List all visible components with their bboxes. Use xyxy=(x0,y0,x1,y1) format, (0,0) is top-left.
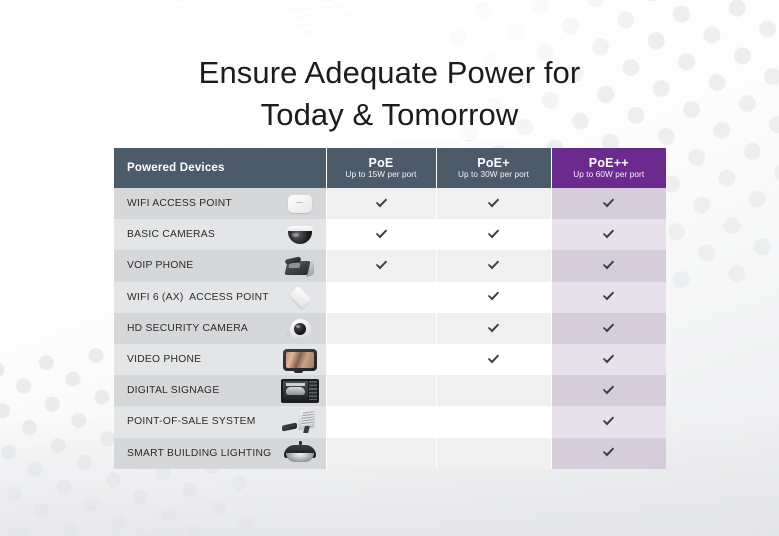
table-row: DIGITAL SIGNAGE xyxy=(114,375,666,406)
support-cell-poe xyxy=(326,344,436,375)
support-cell-poe-plus xyxy=(436,406,551,437)
device-label: POINT-OF-SALE SYSTEM xyxy=(127,416,256,427)
support-cell-poe-plus xyxy=(436,250,551,281)
turret-security-camera-thumbnail xyxy=(280,315,320,341)
table-row: POINT-OF-SALE SYSTEM xyxy=(114,406,666,437)
device-label: SMART BUILDING LIGHTING xyxy=(127,448,271,459)
device-name-cell: WIFI 6 (AX) ACCESS POINT xyxy=(114,282,326,313)
support-cell-poe-plus xyxy=(436,188,551,219)
check-icon xyxy=(374,227,389,242)
tier-name-poe-plus-plus: PoE++ xyxy=(552,156,667,170)
check-icon xyxy=(601,196,616,211)
tier-name-poe-plus: PoE+ xyxy=(437,156,551,170)
video-phone-thumbnail xyxy=(280,347,320,373)
check-icon xyxy=(601,258,616,273)
table-body: WIFI ACCESS POINTBASIC CAMERASVOIP PHONE… xyxy=(114,188,666,469)
check-icon xyxy=(486,227,501,242)
support-cell-poe xyxy=(326,250,436,281)
table-row: HD SECURITY CAMERA xyxy=(114,313,666,344)
check-icon xyxy=(601,383,616,398)
check-icon xyxy=(374,196,389,211)
support-cell-poe xyxy=(326,219,436,250)
support-cell-poe-plus-plus xyxy=(551,188,666,219)
device-name-cell: WIFI ACCESS POINT xyxy=(114,188,326,219)
device-name-cell: HD SECURITY CAMERA xyxy=(114,313,326,344)
device-name-cell: POINT-OF-SALE SYSTEM xyxy=(114,406,326,437)
check-icon xyxy=(601,445,616,460)
support-cell-poe xyxy=(326,406,436,437)
tier-subtitle-poe-plus-plus: Up to 60W per port xyxy=(552,170,667,181)
point-of-sale-terminal-thumbnail xyxy=(280,409,320,435)
support-cell-poe-plus xyxy=(436,375,551,406)
support-cell-poe xyxy=(326,282,436,313)
support-cell-poe xyxy=(326,188,436,219)
column-header-poe-plus: PoE+ Up to 30W per port xyxy=(436,148,551,188)
support-cell-poe-plus-plus xyxy=(551,406,666,437)
support-cell-poe-plus xyxy=(436,282,551,313)
device-name-cell: VOIP PHONE xyxy=(114,250,326,281)
table-row: WIFI 6 (AX) ACCESS POINT xyxy=(114,282,666,313)
column-header-poe-plus-plus: PoE++ Up to 60W per port xyxy=(551,148,666,188)
device-label: WIFI ACCESS POINT xyxy=(127,198,232,209)
support-cell-poe xyxy=(326,438,436,469)
check-icon xyxy=(601,414,616,429)
device-name-cell: SMART BUILDING LIGHTING xyxy=(114,438,326,469)
column-header-poe: PoE Up to 15W per port xyxy=(326,148,436,188)
support-cell-poe-plus xyxy=(436,313,551,344)
table-row: SMART BUILDING LIGHTING xyxy=(114,438,666,469)
table-row: BASIC CAMERAS xyxy=(114,219,666,250)
high-bay-light-thumbnail xyxy=(280,440,320,466)
tier-subtitle-poe: Up to 15W per port xyxy=(327,170,436,181)
support-cell-poe-plus xyxy=(436,438,551,469)
tier-subtitle-poe-plus: Up to 30W per port xyxy=(437,170,551,181)
table-header: Powered Devices PoE Up to 15W per port P… xyxy=(114,148,666,188)
wifi-access-point-thumbnail xyxy=(280,191,320,217)
support-cell-poe-plus-plus xyxy=(551,219,666,250)
device-label: BASIC CAMERAS xyxy=(127,229,215,240)
check-icon xyxy=(486,196,501,211)
digital-signage-thumbnail xyxy=(280,378,320,404)
check-icon xyxy=(486,352,501,367)
check-icon xyxy=(601,352,616,367)
header-row: Powered Devices PoE Up to 15W per port P… xyxy=(114,148,666,188)
device-label: HD SECURITY CAMERA xyxy=(127,323,248,334)
device-name-cell: DIGITAL SIGNAGE xyxy=(114,375,326,406)
device-label: VIDEO PHONE xyxy=(127,354,201,365)
column-header-powered-devices: Powered Devices xyxy=(114,148,326,188)
check-icon xyxy=(486,321,501,336)
poe-comparison-table: Powered Devices PoE Up to 15W per port P… xyxy=(114,148,666,469)
check-icon xyxy=(601,227,616,242)
support-cell-poe xyxy=(326,313,436,344)
table-row: VOIP PHONE xyxy=(114,250,666,281)
support-cell-poe-plus-plus xyxy=(551,375,666,406)
check-icon xyxy=(486,258,501,273)
device-label: DIGITAL SIGNAGE xyxy=(127,385,219,396)
wifi6-access-point-thumbnail xyxy=(280,284,320,310)
page-title: Ensure Adequate Power for Today & Tomorr… xyxy=(0,52,779,135)
device-name-cell: BASIC CAMERAS xyxy=(114,219,326,250)
device-name-cell: VIDEO PHONE xyxy=(114,344,326,375)
tier-name-poe: PoE xyxy=(327,156,436,170)
support-cell-poe-plus-plus xyxy=(551,250,666,281)
support-cell-poe-plus-plus xyxy=(551,313,666,344)
support-cell-poe-plus-plus xyxy=(551,438,666,469)
table-row: WIFI ACCESS POINT xyxy=(114,188,666,219)
check-icon xyxy=(374,258,389,273)
support-cell-poe xyxy=(326,375,436,406)
check-icon xyxy=(601,289,616,304)
table-row: VIDEO PHONE xyxy=(114,344,666,375)
dome-camera-thumbnail xyxy=(280,222,320,248)
device-label: VOIP PHONE xyxy=(127,260,193,271)
support-cell-poe-plus-plus xyxy=(551,344,666,375)
check-icon xyxy=(601,321,616,336)
check-icon xyxy=(486,289,501,304)
voip-desk-phone-thumbnail xyxy=(280,253,320,279)
support-cell-poe-plus xyxy=(436,344,551,375)
support-cell-poe-plus-plus xyxy=(551,282,666,313)
support-cell-poe-plus xyxy=(436,219,551,250)
device-label: WIFI 6 (AX) ACCESS POINT xyxy=(127,292,269,303)
